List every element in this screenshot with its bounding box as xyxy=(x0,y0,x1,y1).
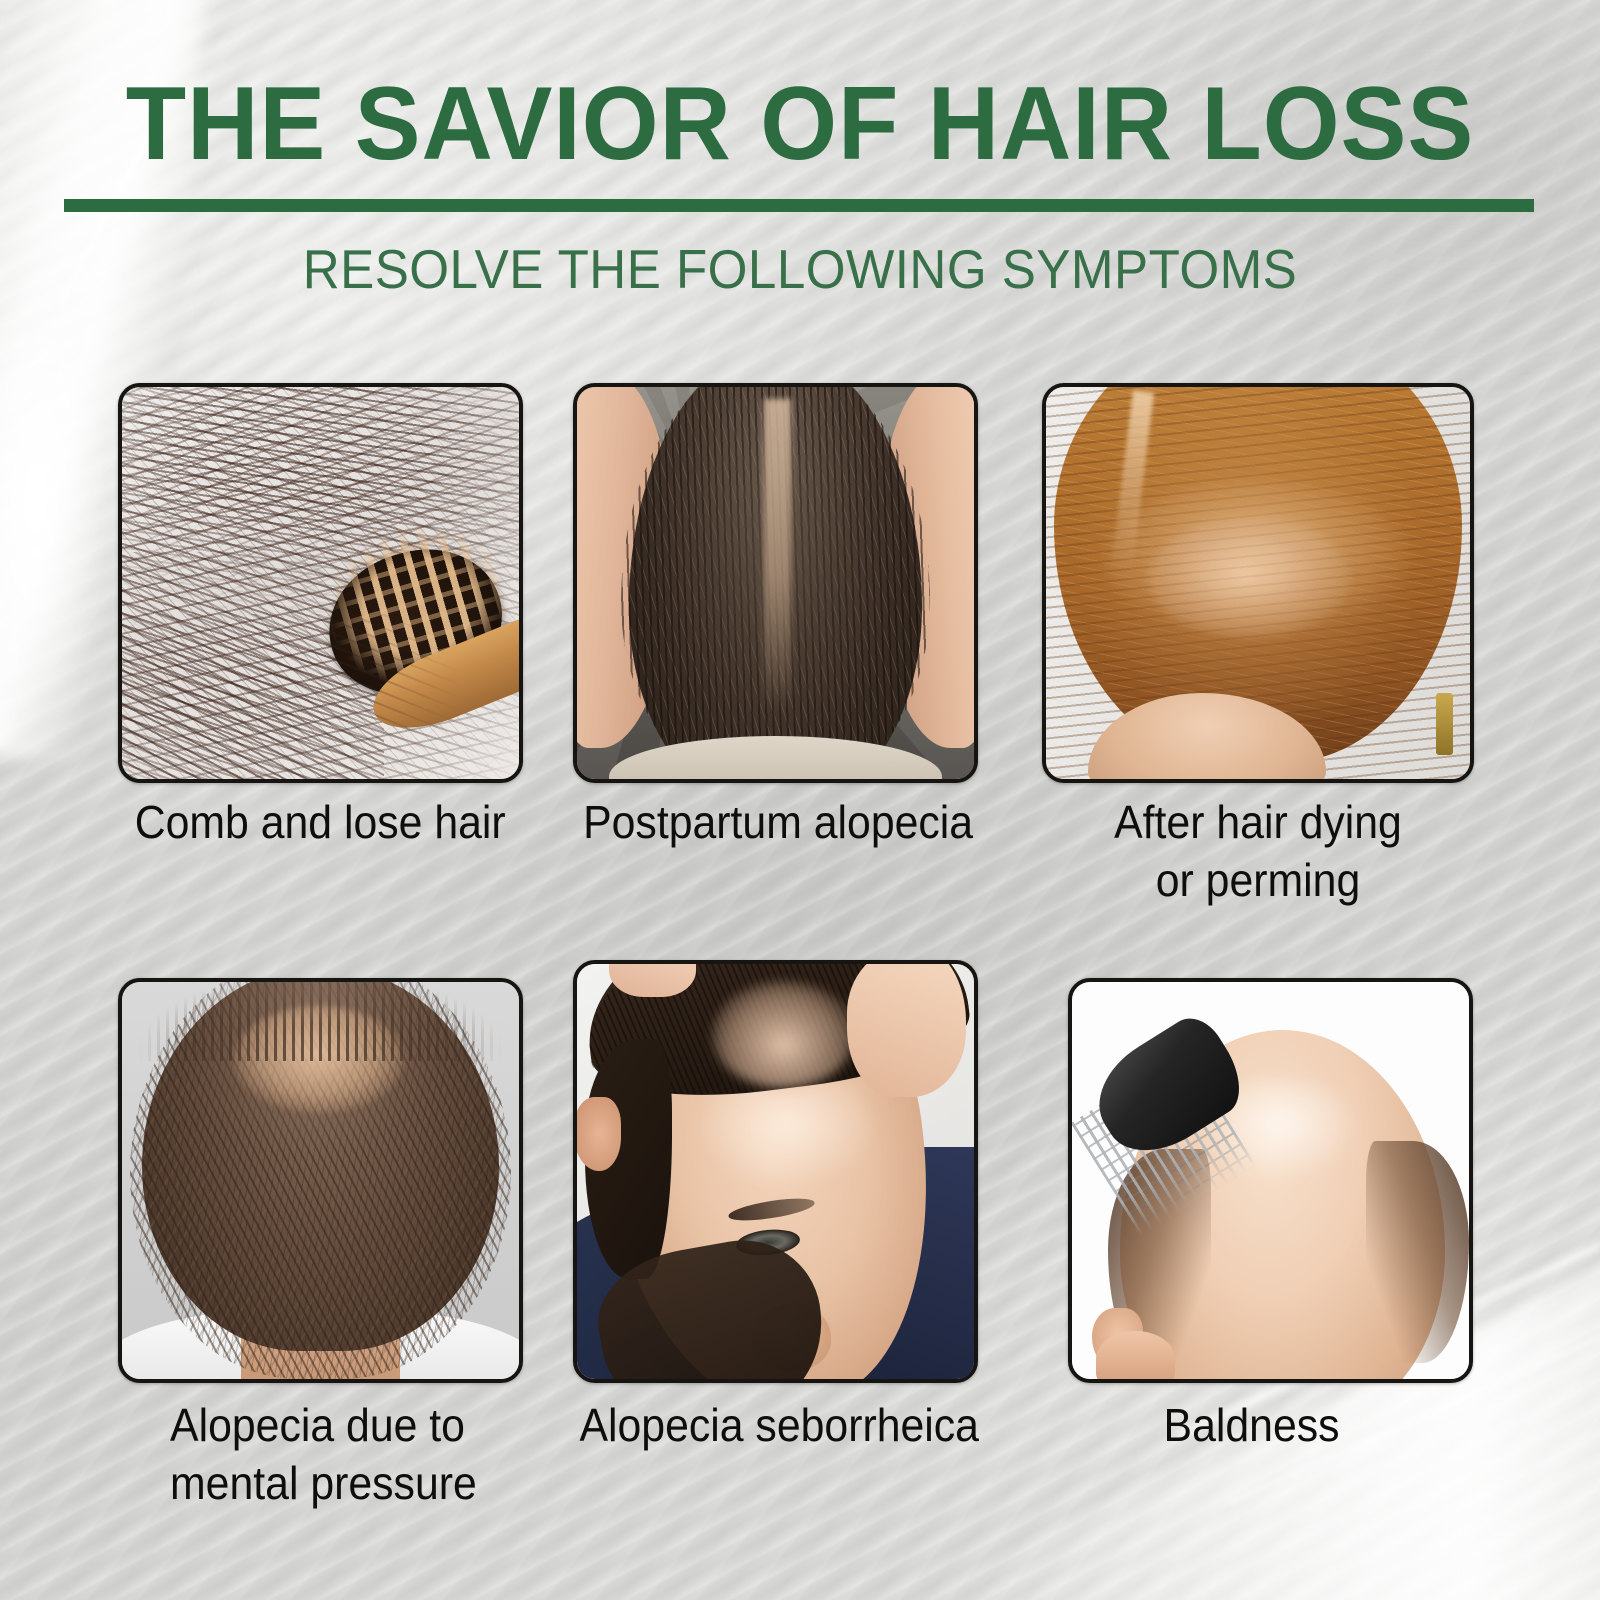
title-underline-rule xyxy=(64,199,1534,212)
symptom-caption-baldness: Baldness xyxy=(1164,1396,1471,1454)
symptom-card-comb-and-lose-hair[interactable] xyxy=(118,383,523,783)
symptom-photo-alopecia-seborrheica xyxy=(577,964,974,1379)
symptom-card-postpartum-alopecia[interactable] xyxy=(573,383,978,783)
symptom-photo-alopecia-due-to-mental-pressure xyxy=(122,982,519,1379)
symptom-caption-comb-and-lose-hair: Comb and lose hair xyxy=(135,793,526,851)
symptom-caption-after-hair-dying-or-perming: After hair dying or perming xyxy=(1057,793,1459,909)
symptom-photo-postpartum-alopecia xyxy=(577,387,974,779)
symptom-photo-comb-and-lose-hair xyxy=(122,387,519,779)
symptom-caption-alopecia-due-to-mental-pressure: Alopecia due to mental pressure xyxy=(170,1396,570,1512)
page-subtitle: RESOLVE THE FOLLOWING SYMPTOMS xyxy=(56,242,1544,297)
symptom-photo-baldness xyxy=(1072,982,1469,1379)
page-title: THE SAVIOR OF HAIR LOSS xyxy=(40,72,1560,176)
symptom-card-after-hair-dying-or-perming[interactable] xyxy=(1042,383,1474,783)
symptom-photo-after-hair-dying-or-perming xyxy=(1046,387,1470,779)
symptom-card-alopecia-seborrheica[interactable] xyxy=(573,960,978,1383)
symptom-caption-alopecia-seborrheica: Alopecia seborrheica xyxy=(579,1396,1016,1454)
symptom-card-alopecia-due-to-mental-pressure[interactable] xyxy=(118,978,523,1383)
symptom-caption-postpartum-alopecia: Postpartum alopecia xyxy=(583,793,1011,851)
symptom-card-baldness[interactable] xyxy=(1068,978,1473,1383)
